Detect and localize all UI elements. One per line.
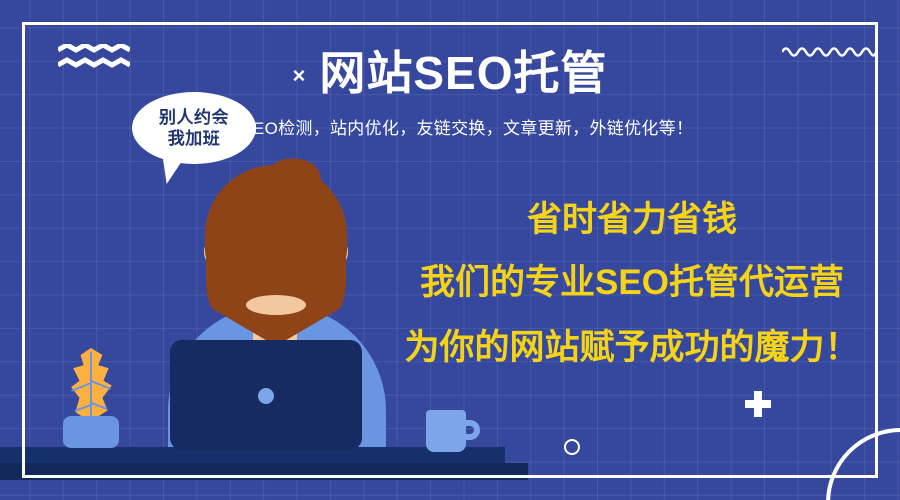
circle-outline-icon: [564, 439, 580, 455]
coffee-mug-icon: [426, 410, 466, 452]
laptop-logo-icon: [258, 388, 274, 404]
seo-promo-banner: 别人约会 我加班 × 网站SEO托管 含：SEO检测，站内优化，友链交换，文章更…: [0, 0, 900, 500]
plus-icon: [745, 391, 771, 417]
slogan-line-3: 为你的网站赋予成功的魔力！: [382, 316, 882, 380]
slogan-line-1: 省时省力省钱: [382, 190, 882, 250]
page-title: 网站SEO托管: [319, 48, 607, 99]
headline-row: × 网站SEO托管: [0, 48, 900, 99]
hair-tuft-shape: [266, 155, 323, 198]
hair-fringe-shape: [210, 215, 342, 241]
slogan-line-2: 我们的专业SEO托管代运营: [382, 250, 882, 316]
subtitle: 含：SEO检测，站内优化，友链交换，文章更新，外链优化等！: [0, 118, 900, 140]
title-marker-icon: ×: [292, 65, 305, 87]
desk-edge: [0, 463, 528, 480]
plant-stem: [90, 352, 92, 424]
slogan-block: 省时省力省钱 我们的专业SEO托管代运营 为你的网站赋予成功的魔力！: [382, 190, 882, 380]
mouth-shape: [246, 295, 306, 315]
